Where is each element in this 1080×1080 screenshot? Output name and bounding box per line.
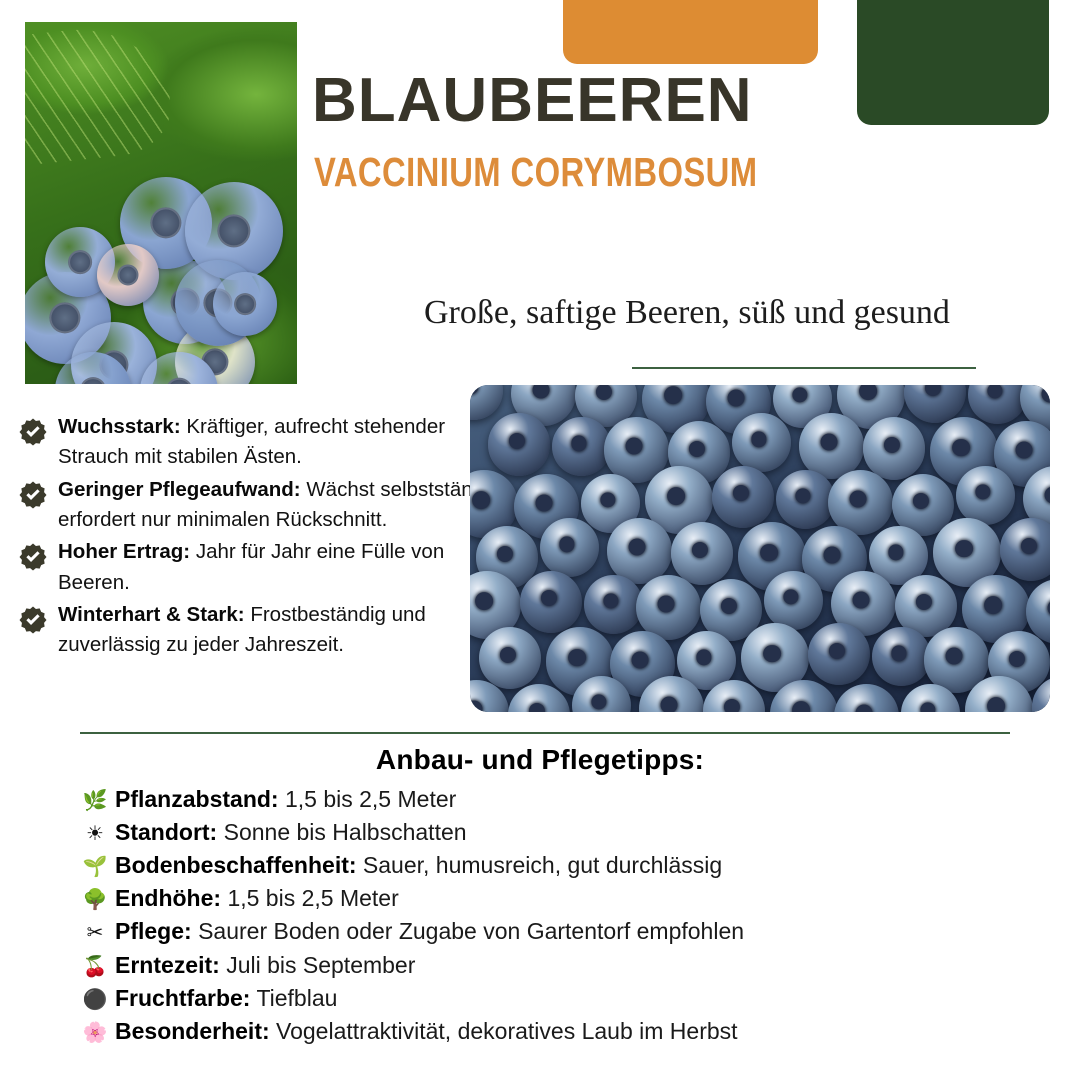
berry — [732, 413, 791, 472]
berry — [540, 518, 599, 577]
care-tip-value: 1,5 bis 2,5 Meter — [285, 786, 456, 812]
berry — [1000, 518, 1050, 580]
poster-canvas: BLAUBEEREN VACCINIUM CORYMBOSUM Große, s… — [0, 0, 1080, 1080]
berry — [671, 522, 733, 584]
berry — [520, 571, 582, 633]
berry — [872, 627, 931, 686]
care-tip-text: Endhöhe: 1,5 bis 2,5 Meter — [115, 882, 399, 915]
feature-label: Geringer Pflegeaufwand: — [58, 478, 301, 501]
feature-list: Wuchsstark: Kräftiger, aufrecht stehende… — [18, 412, 518, 663]
check-badge-icon — [18, 542, 48, 572]
berry — [712, 466, 774, 528]
feature-label: Hoher Ertrag: — [58, 540, 190, 563]
check-badge-icon — [18, 480, 48, 510]
berry — [636, 575, 701, 640]
care-tip-label: Erntezeit: — [115, 952, 220, 978]
berry — [764, 571, 823, 630]
care-tip-item: ⚫Fruchtfarbe: Tiefblau — [82, 982, 1042, 1015]
care-tip-item: 🌸Besonderheit: Vogelattraktivität, dekor… — [82, 1015, 1042, 1048]
berry — [97, 244, 159, 306]
care-tip-text: Erntezeit: Juli bis September — [115, 949, 415, 982]
berry — [776, 470, 835, 529]
berry — [584, 575, 643, 634]
feature-item: Wuchsstark: Kräftiger, aufrecht stehende… — [18, 412, 518, 473]
care-tip-value: Juli bis September — [226, 952, 415, 978]
page-title: BLAUBEEREN — [312, 70, 753, 132]
feature-label: Wuchsstark: — [58, 415, 181, 438]
care-tip-item: ☀Standort: Sonne bis Halbschatten — [82, 816, 1042, 849]
care-tip-text: Pflanzabstand: 1,5 bis 2,5 Meter — [115, 783, 456, 816]
care-tip-item: 🌱Bodenbeschaffenheit: Sauer, humusreich,… — [82, 849, 1042, 882]
sun-icon: ☀ — [82, 824, 108, 844]
care-tip-text: Standort: Sonne bis Halbschatten — [115, 816, 467, 849]
care-tip-label: Pflanzabstand: — [115, 786, 279, 812]
care-tip-item: 🌳Endhöhe: 1,5 bis 2,5 Meter — [82, 882, 1042, 915]
tree-icon: 🌳 — [82, 890, 108, 910]
feature-item: Winterhart & Stark: Frostbeständig und z… — [18, 600, 518, 661]
blossom-icon: 🌸 — [82, 1023, 108, 1043]
feature-text: Winterhart & Stark: Frostbeständig und z… — [58, 600, 518, 661]
latin-name: VACCINIUM CORYMBOSUM — [314, 152, 758, 193]
feature-item: Hoher Ertrag: Jahr für Jahr eine Fülle v… — [18, 537, 518, 598]
care-tip-label: Pflege: — [115, 918, 192, 944]
tagline: Große, saftige Beeren, süß und gesund — [424, 293, 1024, 334]
bush-photo — [25, 22, 297, 384]
care-tip-item: ✂Pflege: Saurer Boden oder Zugabe von Ga… — [82, 915, 1042, 948]
berry — [799, 413, 864, 478]
herb-branch-icon: 🌿 — [82, 791, 108, 811]
berry — [828, 470, 893, 535]
berry — [488, 413, 550, 475]
care-tip-value: Sonne bis Halbschatten — [224, 819, 467, 845]
feature-text: Wuchsstark: Kräftiger, aufrecht stehende… — [58, 412, 518, 473]
berry — [607, 518, 672, 583]
care-tip-value: Sauer, humusreich, gut durchlässig — [363, 852, 722, 878]
care-tip-label: Fruchtfarbe: — [115, 985, 250, 1011]
care-heading: Anbau- und Pflegetipps: — [0, 744, 1080, 776]
section-divider — [80, 732, 1010, 734]
feature-text: Geringer Pflegeaufwand: Wächst selbststä… — [58, 475, 518, 536]
care-tip-text: Fruchtfarbe: Tiefblau — [115, 982, 337, 1015]
care-tip-label: Bodenbeschaffenheit: — [115, 852, 357, 878]
care-tip-label: Besonderheit: — [115, 1018, 270, 1044]
care-tip-label: Endhöhe: — [115, 885, 221, 911]
harvest-photo — [470, 385, 1050, 712]
tagline-divider — [632, 367, 976, 369]
black-circle-icon: ⚫ — [82, 990, 108, 1010]
check-badge-icon — [18, 417, 48, 447]
green-rounded-block — [857, 0, 1049, 125]
care-tip-value: Saurer Boden oder Zugabe von Gartentorf … — [198, 918, 744, 944]
orange-rounded-block — [563, 0, 818, 64]
berry — [863, 417, 925, 479]
care-tip-label: Standort: — [115, 819, 217, 845]
care-tip-text: Pflege: Saurer Boden oder Zugabe von Gar… — [115, 915, 744, 948]
care-tip-value: 1,5 bis 2,5 Meter — [227, 885, 398, 911]
feature-text: Hoher Ertrag: Jahr für Jahr eine Fülle v… — [58, 537, 518, 598]
feature-label: Winterhart & Stark: — [58, 603, 245, 626]
seedling-icon: 🌱 — [82, 857, 108, 877]
care-tip-item: 🌿Pflanzabstand: 1,5 bis 2,5 Meter — [82, 783, 1042, 816]
scissors-icon: ✂ — [82, 923, 108, 943]
check-badge-icon — [18, 605, 48, 635]
feature-item: Geringer Pflegeaufwand: Wächst selbststä… — [18, 475, 518, 536]
berry — [552, 417, 611, 476]
berry — [213, 272, 277, 336]
cherries-icon: 🍒 — [82, 957, 108, 977]
berry — [956, 466, 1015, 525]
care-tip-item: 🍒Erntezeit: Juli bis September — [82, 949, 1042, 982]
care-tip-value: Vogelattraktivität, dekoratives Laub im … — [276, 1018, 738, 1044]
care-tip-text: Besonderheit: Vogelattraktivität, dekora… — [115, 1015, 738, 1048]
care-tip-text: Bodenbeschaffenheit: Sauer, humusreich, … — [115, 849, 722, 882]
care-tip-value: Tiefblau — [256, 985, 337, 1011]
care-tips-list: 🌿Pflanzabstand: 1,5 bis 2,5 Meter☀Stando… — [82, 783, 1042, 1048]
